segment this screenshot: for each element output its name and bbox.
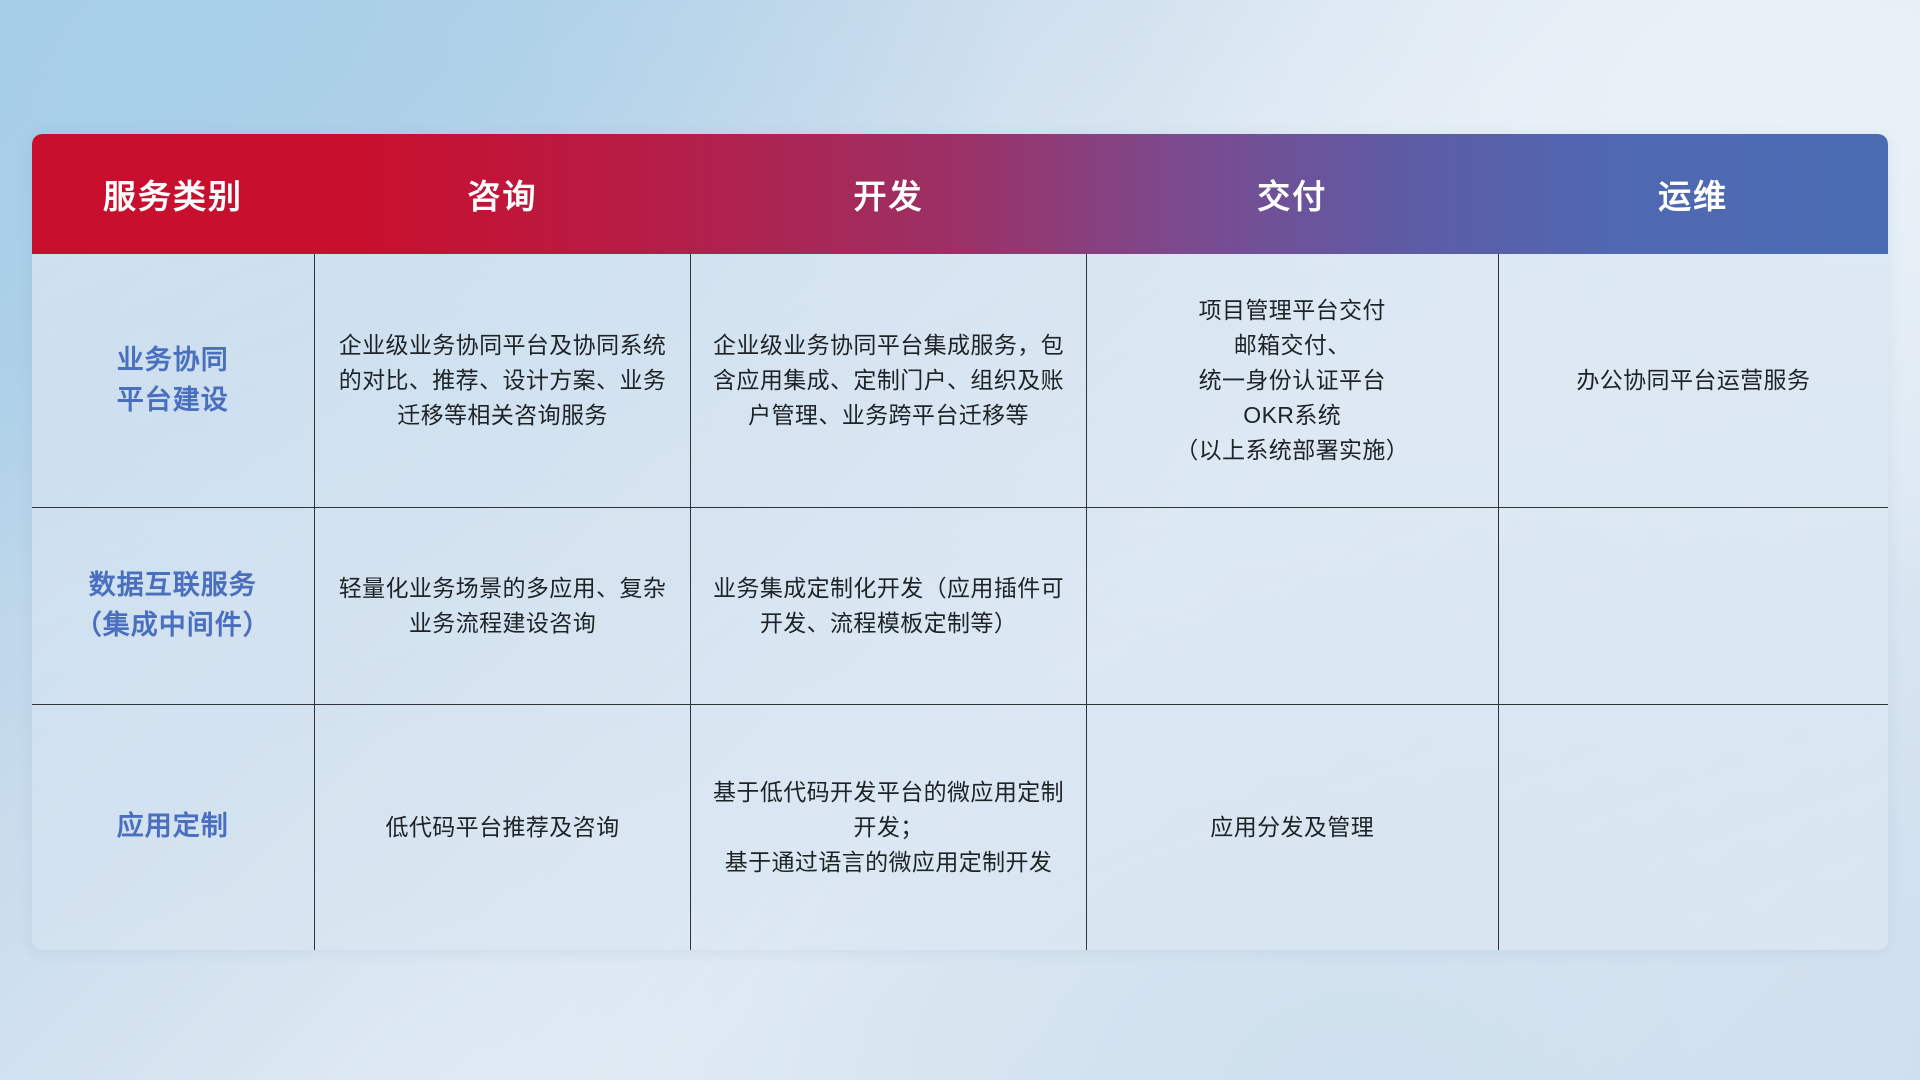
cell-development: 业务集成定制化开发（应用插件可开发、流程模板定制等） xyxy=(691,508,1086,705)
cell-consulting: 低代码平台推荐及咨询 xyxy=(314,704,691,950)
table-row: 业务协同平台建设 企业级业务协同平台及协同系统的对比、推荐、设计方案、业务迁移等… xyxy=(32,254,1888,508)
table-row: 应用定制 低代码平台推荐及咨询 基于低代码开发平台的微应用定制开发；基于通过语言… xyxy=(32,704,1888,950)
header-cell-category: 服务类别 xyxy=(32,134,314,254)
cell-operations: 办公协同平台运营服务 xyxy=(1498,254,1888,508)
table-header: 服务类别 咨询 开发 交付 运维 xyxy=(32,134,1888,254)
header-label-category: 服务类别 xyxy=(103,178,243,215)
header-label-development: 开发 xyxy=(854,178,924,215)
cell-operations xyxy=(1498,704,1888,950)
header-cell-operations: 运维 xyxy=(1498,134,1888,254)
row-category-label: 数据互联服务（集成中间件） xyxy=(32,508,314,705)
header-label-consulting: 咨询 xyxy=(467,178,537,215)
header-label-operations: 运维 xyxy=(1658,178,1728,215)
header-label-delivery: 交付 xyxy=(1257,178,1327,215)
cell-delivery xyxy=(1086,508,1498,705)
service-matrix-table: 服务类别 咨询 开发 交付 运维 xyxy=(32,134,1888,950)
header-cell-delivery: 交付 xyxy=(1086,134,1498,254)
cell-delivery: 应用分发及管理 xyxy=(1086,704,1498,950)
cell-delivery: 项目管理平台交付邮箱交付、统一身份认证平台OKR系统（以上系统部署实施） xyxy=(1086,254,1498,508)
service-matrix-card: 服务类别 咨询 开发 交付 运维 xyxy=(32,134,1888,950)
cell-development: 基于低代码开发平台的微应用定制开发；基于通过语言的微应用定制开发 xyxy=(691,704,1086,950)
table-body: 业务协同平台建设 企业级业务协同平台及协同系统的对比、推荐、设计方案、业务迁移等… xyxy=(32,254,1888,950)
header-row: 服务类别 咨询 开发 交付 运维 xyxy=(32,134,1888,254)
header-cell-development: 开发 xyxy=(691,134,1086,254)
cell-consulting: 轻量化业务场景的多应用、复杂业务流程建设咨询 xyxy=(314,508,691,705)
cell-consulting: 企业级业务协同平台及协同系统的对比、推荐、设计方案、业务迁移等相关咨询服务 xyxy=(314,254,691,508)
slide-canvas: 服务类别 咨询 开发 交付 运维 xyxy=(0,0,1920,1080)
table-row: 数据互联服务（集成中间件） 轻量化业务场景的多应用、复杂业务流程建设咨询 业务集… xyxy=(32,508,1888,705)
row-category-label: 应用定制 xyxy=(32,704,314,950)
header-cell-consulting: 咨询 xyxy=(314,134,691,254)
row-category-label: 业务协同平台建设 xyxy=(32,254,314,508)
cell-operations xyxy=(1498,508,1888,705)
cell-development: 企业级业务协同平台集成服务，包含应用集成、定制门户、组织及账户管理、业务跨平台迁… xyxy=(691,254,1086,508)
